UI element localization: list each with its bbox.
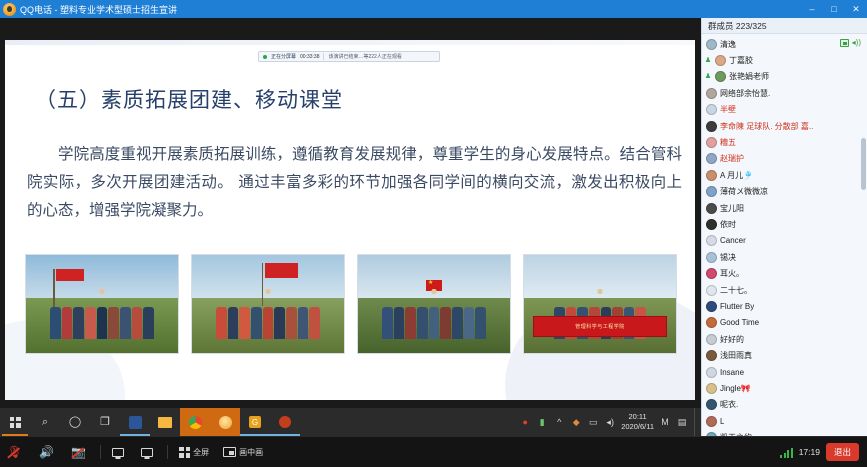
avatar — [706, 399, 717, 410]
picture-in-picture[interactable]: 画中画 — [216, 437, 270, 467]
member-name: 清逸 — [720, 39, 736, 50]
avatar — [706, 317, 717, 328]
avatar — [715, 71, 726, 82]
member-name: 宝儿阳 — [720, 203, 744, 214]
window-title: QQ电话 - 塑料专业学术型硕士招生宣讲 — [20, 3, 177, 16]
meeting-control-bar: 🎙 🔊 📷 全屏 画中画 17: — [0, 436, 867, 467]
control-divider — [100, 445, 101, 459]
host-icon: ♟ — [704, 57, 712, 65]
photo-people-row — [192, 294, 344, 339]
avatar — [706, 219, 717, 230]
window-title-bar: QQ电话 - 塑料专业学术型硕士招生宣讲 – □ ✕ — [0, 0, 867, 18]
chevron-up-icon[interactable]: ^ — [553, 415, 565, 429]
volume-icon[interactable]: ◂) — [604, 415, 616, 429]
taskbar-search[interactable]: ⌕ — [30, 408, 60, 436]
taskbar-app-g[interactable]: G — [240, 408, 270, 436]
avatar — [706, 301, 717, 312]
member-row[interactable]: 依时 — [702, 216, 867, 232]
member-row[interactable]: Good Time — [702, 315, 867, 331]
qq-meeting-window: QQ电话 - 塑料专业学术型硕士招生宣讲 – □ ✕ （五）素质拓展团建、移动课… — [0, 0, 867, 467]
slide-photo: 管理科学与工程学院 — [523, 254, 677, 354]
member-row[interactable]: 赵瑞护 — [702, 151, 867, 167]
presentation-slide: （五）素质拓展团建、移动课堂 学院高度重视开展素质拓展训练，遵循教育发展规律，尊… — [5, 40, 695, 400]
member-name: 锡决 — [720, 252, 736, 263]
member-row[interactable]: 半壁 — [702, 102, 867, 118]
member-name: Insane — [720, 368, 744, 377]
member-row[interactable]: ♟ 丁嘉胶 — [702, 52, 867, 68]
member-name: 好好的 — [720, 334, 744, 345]
member-row[interactable]: Cancer — [702, 233, 867, 249]
member-row[interactable]: Flutter By — [702, 298, 867, 314]
system-tray: ● ▮ ^ ◆ ▭ ◂) 20:11 2020/6/11 M ▤ — [519, 412, 694, 432]
avatar — [706, 383, 717, 394]
member-row-tools[interactable]: ◂)) — [840, 39, 861, 47]
member-row[interactable]: 呢衣. — [702, 397, 867, 413]
member-name: 张艳娟老师 — [729, 71, 769, 82]
avatar — [706, 268, 717, 279]
avatar — [706, 170, 717, 181]
member-row[interactable]: L — [702, 413, 867, 429]
monitor-icon — [141, 448, 153, 457]
speaker-icon[interactable]: ◂)) — [852, 39, 861, 47]
avatar — [706, 367, 717, 378]
share-viewer-info: 该演讲已结束…等222人正在观看 — [328, 53, 401, 60]
folder-icon — [158, 417, 172, 428]
control-divider — [167, 445, 168, 459]
member-row[interactable]: A 月儿🎐 — [702, 167, 867, 183]
member-name: 网络部余怡慧. — [720, 88, 770, 99]
taskbar-file-explorer[interactable] — [150, 408, 180, 436]
start-button[interactable] — [0, 408, 30, 436]
photo-banner-text: 管理科学与工程学院 — [534, 317, 666, 337]
taskbar-word[interactable] — [120, 408, 150, 436]
slide-title: （五）素质拓展团建、移动课堂 — [35, 84, 343, 114]
avatar — [706, 39, 717, 50]
slide-photo — [25, 254, 179, 354]
member-name: 呢衣. — [720, 399, 738, 410]
app-g-icon: G — [249, 416, 261, 428]
camera-toggle[interactable]: 📷 — [64, 437, 96, 467]
control-bar-right: 17:19 退出 — [780, 443, 867, 461]
taskbar-chrome[interactable] — [180, 408, 210, 436]
member-row[interactable]: 二十七。 — [702, 282, 867, 298]
slide-body-text: 学院高度重视开展素质拓展训练，遵循教育发展规律，尊重学生的身心发展特点。结合管科… — [27, 140, 682, 224]
member-row[interactable]: 网络部余怡慧. — [702, 85, 867, 101]
show-desktop-button[interactable] — [694, 408, 701, 436]
avatar — [706, 416, 717, 427]
avatar — [706, 186, 717, 197]
minimize-button[interactable]: – — [801, 0, 823, 18]
member-list[interactable]: 清逸 ◂)) ♟ 丁嘉胶 ♟ 张艳娟老师 网络部余怡慧. — [702, 34, 867, 467]
slide-photo — [357, 254, 511, 354]
photo-people-row — [26, 294, 178, 339]
window-controls: – □ ✕ — [801, 0, 867, 18]
member-name: 耳火。 — [720, 268, 744, 279]
member-name: Jingle🎀 — [720, 384, 751, 393]
search-icon: ⌕ — [42, 417, 48, 428]
avatar — [706, 137, 717, 148]
member-row[interactable]: 薄荷〤微微凉 — [702, 184, 867, 200]
member-name: L — [720, 417, 724, 426]
avatar — [706, 104, 717, 115]
member-row[interactable]: 锡决 — [702, 249, 867, 265]
task-view-icon: ❐ — [100, 417, 110, 428]
pip-label: 画中画 — [239, 447, 263, 458]
mic-toggle[interactable]: 🎙 — [0, 437, 32, 467]
avatar — [715, 55, 726, 66]
share-screen[interactable] — [105, 437, 134, 467]
member-name: A 月儿🎐 — [720, 170, 753, 181]
signal-bars-icon — [780, 447, 793, 458]
member-name: 丁嘉胶 — [729, 55, 753, 66]
screen-share-icon[interactable] — [840, 39, 849, 47]
red-flag — [56, 269, 83, 282]
member-row[interactable]: 好好的 — [702, 331, 867, 347]
pip-icon — [223, 447, 236, 457]
slide-photo — [191, 254, 345, 354]
qq-icon — [219, 416, 232, 429]
member-name: 二十七。 — [720, 285, 752, 296]
taskbar-qq[interactable] — [210, 408, 240, 436]
avatar — [706, 153, 717, 164]
taskbar-powerpoint[interactable] — [270, 408, 300, 436]
word-icon — [129, 416, 142, 429]
speaker-toggle[interactable]: 🔊 — [32, 437, 64, 467]
shield-icon[interactable]: ◆ — [570, 415, 582, 429]
member-row[interactable]: 耳火。 — [702, 265, 867, 281]
screen-share-status-bar[interactable]: 正在分屏幕 00:33:38 该演讲已结束…等222人正在观看 — [258, 51, 440, 62]
member-row[interactable]: 清逸 ◂)) — [702, 36, 867, 52]
share-bar-divider — [323, 53, 324, 60]
microphone-muted-icon: 🎙 — [7, 446, 22, 458]
member-list-panel: 群成员 223/325 清逸 ◂)) ♟ 丁嘉胶 ♟ 张艳娟老师 — [701, 18, 867, 467]
member-row[interactable]: Jingle🎀 — [702, 380, 867, 396]
windows-taskbar: ⌕ ◯ ❐ G ● ▮ ^ ◆ ▭ ◂) 20:11 — [0, 408, 701, 436]
qq-penguin-icon — [3, 3, 16, 16]
avatar — [706, 252, 717, 263]
present-screen[interactable] — [134, 437, 163, 467]
host-icon: ♟ — [704, 73, 712, 81]
recording-dot-icon — [263, 55, 267, 59]
share-timer: 00:33:38 — [300, 54, 319, 60]
avatar — [706, 203, 717, 214]
member-row[interactable]: 李命陳 足球队. 分散部 嘉.. — [702, 118, 867, 134]
maximize-button[interactable]: □ — [823, 0, 845, 18]
avatar — [706, 121, 717, 132]
clock-time: 20:11 — [621, 412, 654, 422]
avatar — [706, 350, 717, 361]
slide-top-accent — [5, 40, 695, 45]
meeting-elapsed-time: 17:19 — [799, 447, 820, 457]
fullscreen-icon — [179, 447, 190, 458]
member-name: 薄荷〤微微凉 — [720, 186, 768, 197]
member-name: 浅田雨真 — [720, 350, 752, 361]
member-count-header: 群成员 223/325 — [702, 18, 867, 34]
clock-date: 2020/6/11 — [621, 422, 654, 432]
avatar — [706, 334, 717, 345]
photo-people-row — [358, 294, 510, 339]
fullscreen[interactable]: 全屏 — [172, 437, 216, 467]
member-row[interactable]: 浅田雨真 — [702, 347, 867, 363]
member-row[interactable]: 糟五 — [702, 134, 867, 150]
speaker-icon: 🔊 — [39, 446, 54, 458]
fullscreen-label: 全屏 — [193, 447, 209, 458]
windows-logo-icon — [10, 417, 21, 428]
red-flag — [265, 263, 298, 278]
slide-photo-strip: 管理科学与工程学院 — [25, 254, 677, 354]
taskbar-cortana[interactable]: ◯ — [60, 408, 90, 436]
shared-screen-stage: （五）素质拓展团建、移动课堂 学院高度重视开展素质拓展训练，遵循教育发展规律，尊… — [0, 18, 701, 408]
member-row[interactable]: ♟ 张艳娟老师 — [702, 69, 867, 85]
member-name: 李命陳 足球队. 分散部 嘉.. — [720, 121, 813, 132]
member-row[interactable]: 宝儿阳 — [702, 200, 867, 216]
member-name: 糟五 — [720, 137, 736, 148]
member-name: Flutter By — [720, 302, 754, 311]
member-row[interactable]: Insane — [702, 364, 867, 380]
app-red-icon[interactable]: ● — [519, 415, 531, 429]
member-list-scrollbar[interactable] — [861, 138, 866, 190]
network-icon[interactable]: ▭ — [587, 415, 599, 429]
avatar — [706, 88, 717, 99]
close-button[interactable]: ✕ — [845, 0, 867, 18]
ime-icon[interactable]: M — [659, 415, 671, 429]
battery-icon[interactable]: ▮ — [536, 415, 548, 429]
notification-icon[interactable]: ▤ — [676, 415, 688, 429]
chrome-icon — [189, 416, 202, 429]
member-name: Cancer — [720, 236, 746, 245]
share-status-text: 正在分屏幕 — [271, 53, 296, 60]
powerpoint-icon — [279, 416, 291, 428]
screen-share-icon — [112, 448, 124, 457]
avatar — [706, 235, 717, 246]
taskbar-task-view[interactable]: ❐ — [90, 408, 120, 436]
member-name: 赵瑞护 — [720, 153, 744, 164]
photo-banner: 管理科学与工程学院 — [533, 316, 667, 338]
taskbar-clock[interactable]: 20:11 2020/6/11 — [621, 412, 654, 432]
member-name: 依时 — [720, 219, 736, 230]
member-name: Good Time — [720, 318, 759, 327]
circle-icon: ◯ — [69, 417, 81, 428]
camera-off-icon: 📷 — [71, 446, 86, 458]
avatar — [706, 285, 717, 296]
exit-meeting-button[interactable]: 退出 — [826, 443, 859, 461]
member-name: 半壁 — [720, 104, 736, 115]
